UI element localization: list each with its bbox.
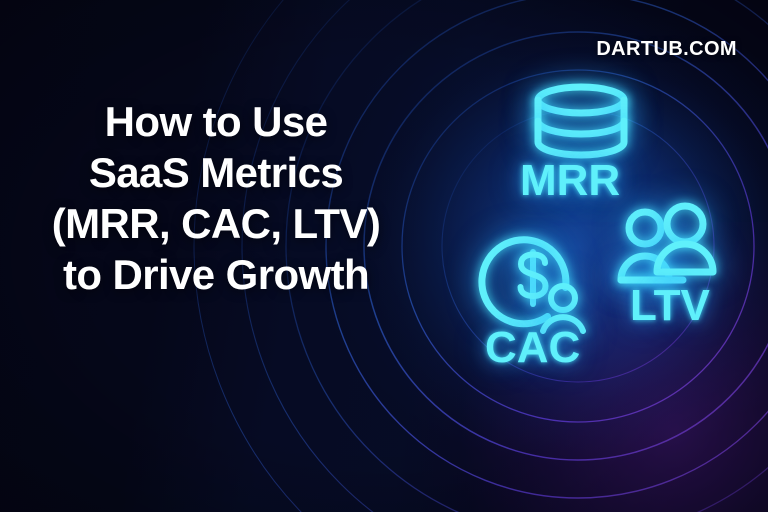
brand-watermark: DARTUB.COM [596,38,737,61]
title-line-2: SaaS Metrics [6,147,426,198]
title-line-3: (MRR, CAC, LTV) [6,198,426,249]
banner-canvas: DARTUB.COM How to Use SaaS Metrics (MRR,… [0,0,768,512]
title-line-4: to Drive Growth [6,249,426,300]
page-title: How to Use SaaS Metrics (MRR, CAC, LTV) … [6,96,426,300]
title-line-1: How to Use [6,96,426,147]
